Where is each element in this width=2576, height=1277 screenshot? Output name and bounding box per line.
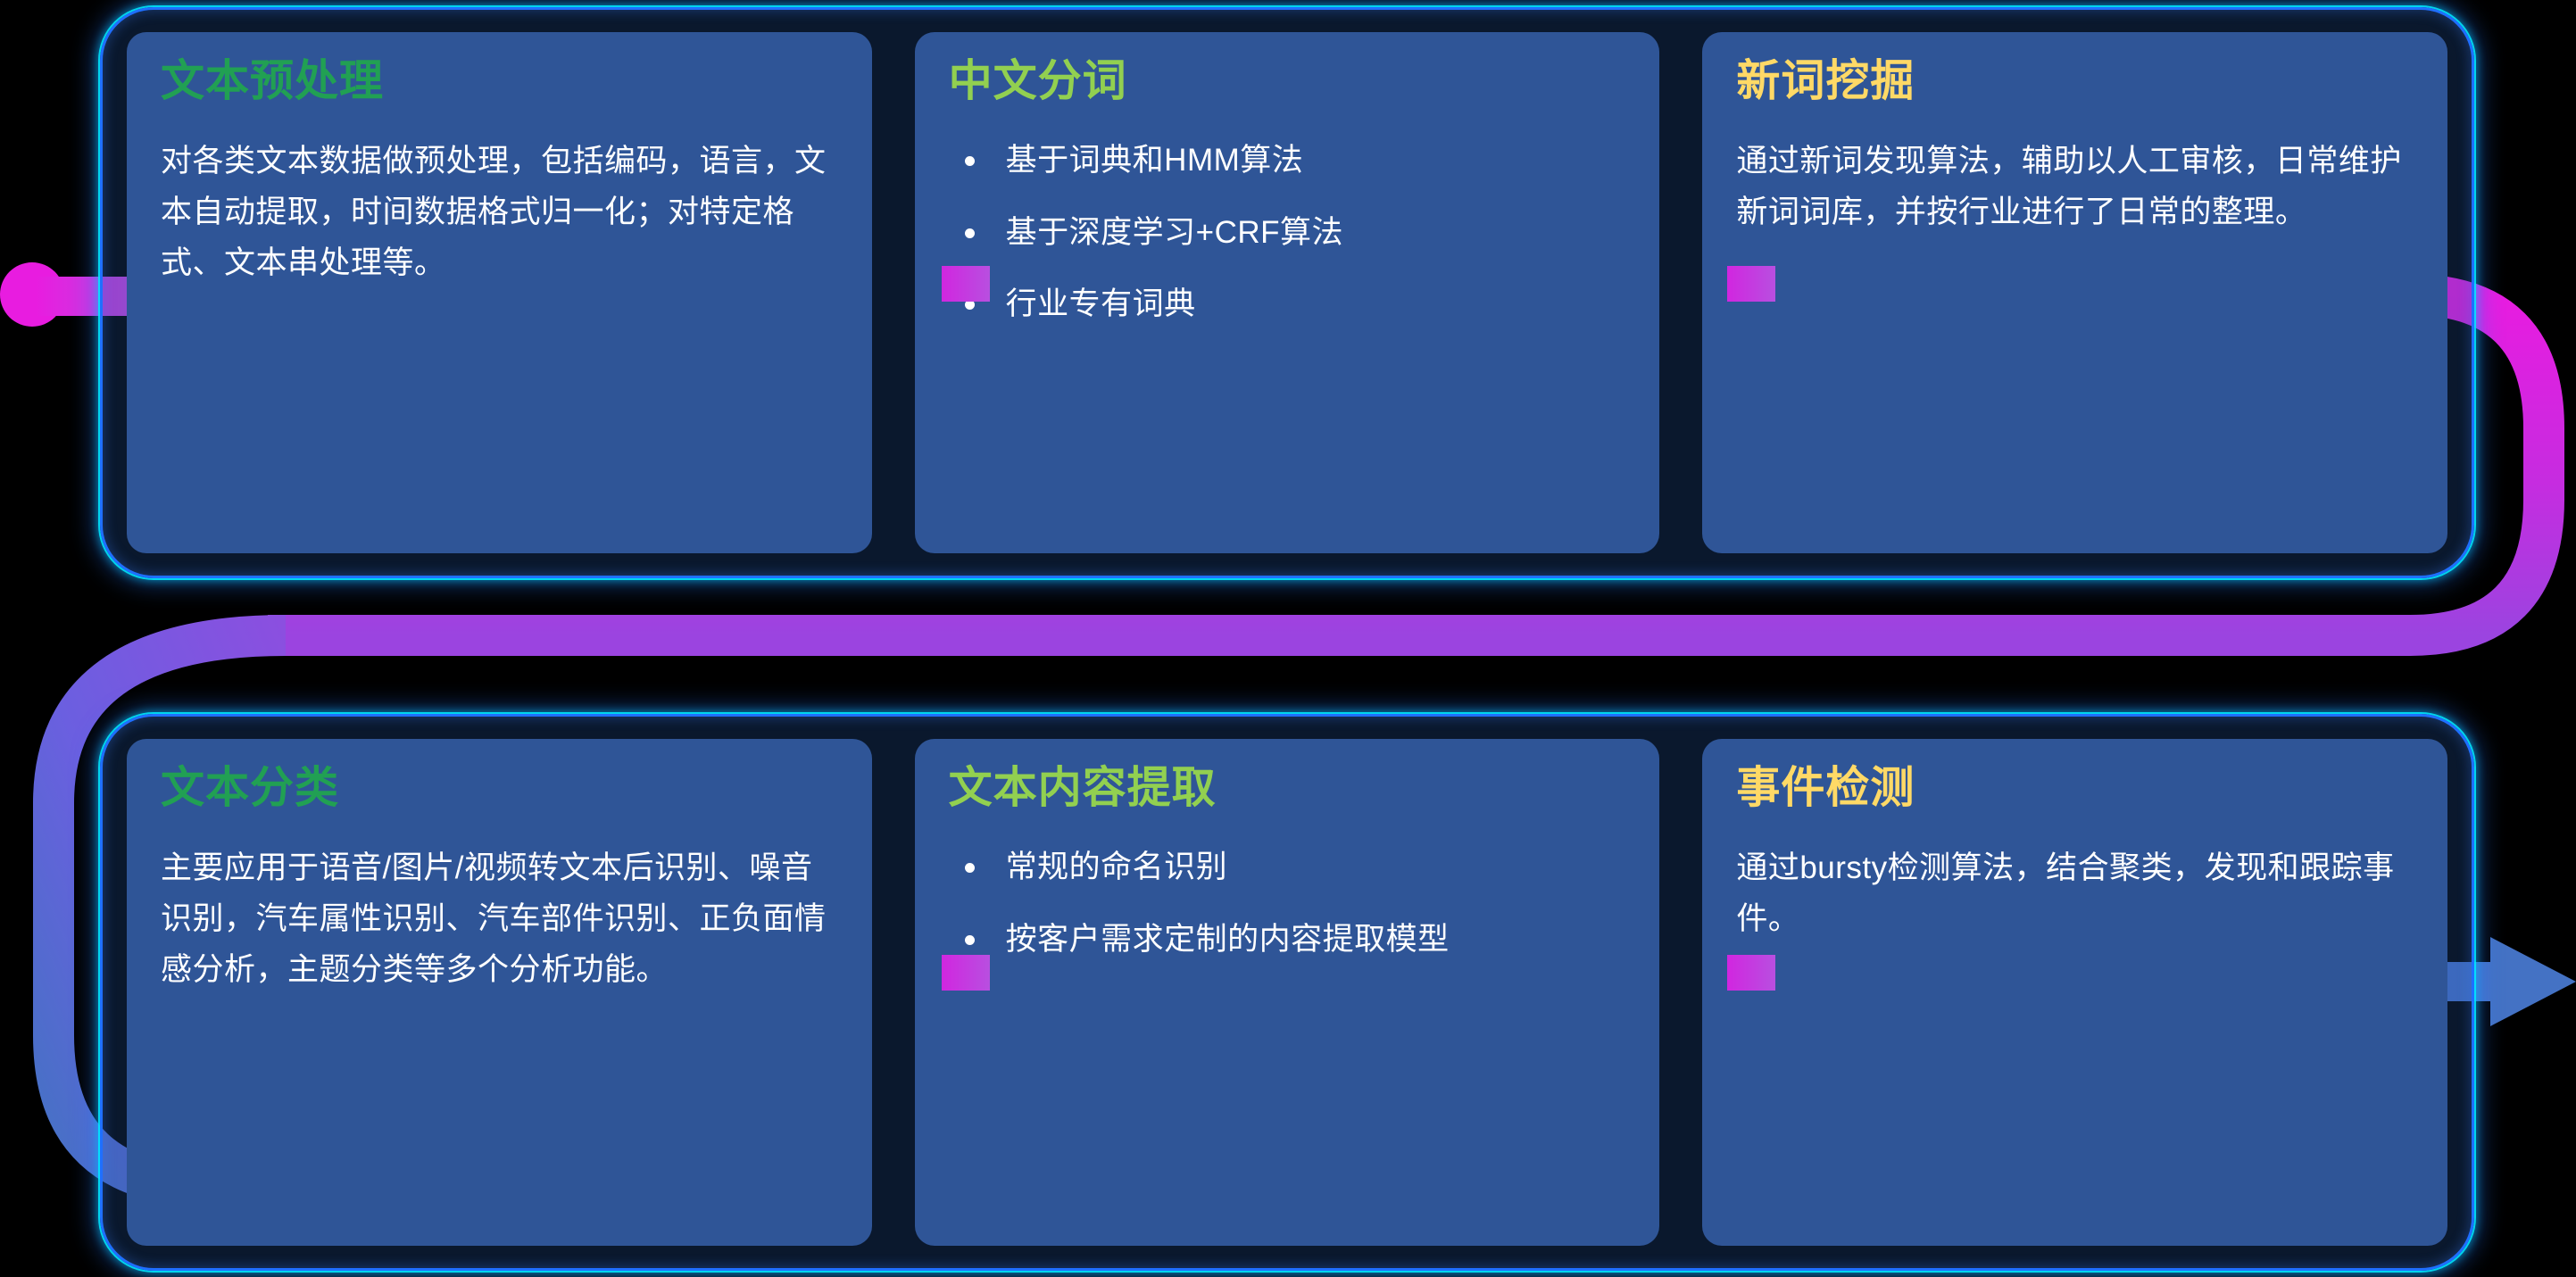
card-title: 中文分词 bbox=[949, 59, 1626, 104]
list-item: 基于词典和HMM算法 bbox=[949, 137, 1626, 185]
card-content-extraction[interactable]: 文本内容提取 常规的命名识别 按客户需求定制的内容提取模型 bbox=[915, 739, 1660, 1246]
card-title: 新词挖掘 bbox=[1736, 59, 2414, 104]
list-item: 常规的命名识别 bbox=[949, 843, 1626, 891]
card-text-classification[interactable]: 文本分类 主要应用于语音/图片/视频转文本后识别、噪音识别，汽车属性识别、汽车部… bbox=[127, 739, 872, 1246]
list-item: 按客户需求定制的内容提取模型 bbox=[949, 916, 1626, 964]
card-text-preprocessing[interactable]: 文本预处理 对各类文本数据做预处理，包括编码，语言，文本自动提取，时间数据格式归… bbox=[127, 32, 872, 553]
row-1-container: 文本预处理 对各类文本数据做预处理，包括编码，语言，文本自动提取，时间数据格式归… bbox=[100, 7, 2474, 578]
connector-stub-1 bbox=[942, 266, 990, 302]
card-body-text: 对各类文本数据做预处理，包括编码，语言，文本自动提取，时间数据格式归一化；对特定… bbox=[161, 137, 838, 288]
card-chinese-segmentation[interactable]: 中文分词 基于词典和HMM算法 基于深度学习+CRF算法 行业专有词典 bbox=[915, 32, 1660, 553]
connector-stub-3 bbox=[942, 955, 990, 991]
list-item: 基于深度学习+CRF算法 bbox=[949, 209, 1626, 257]
flow-start-dot bbox=[0, 262, 64, 327]
card-title: 事件检测 bbox=[1736, 766, 2414, 811]
card-title: 文本分类 bbox=[161, 766, 838, 811]
card-bullet-list: 常规的命名识别 按客户需求定制的内容提取模型 bbox=[949, 843, 1626, 964]
connector-stub-2 bbox=[1727, 266, 1775, 302]
card-title: 文本内容提取 bbox=[949, 766, 1626, 811]
flow-end-arrow bbox=[2490, 937, 2576, 1026]
card-body-text: 通过新词发现算法，辅助以人工审核，日常维护新词词库，并按行业进行了日常的整理。 bbox=[1736, 137, 2414, 237]
card-body-text: 主要应用于语音/图片/视频转文本后识别、噪音识别，汽车属性识别、汽车部件识别、正… bbox=[161, 843, 838, 995]
connector-stub-4 bbox=[1727, 955, 1775, 991]
card-event-detection[interactable]: 事件检测 通过bursty检测算法，结合聚类，发现和跟踪事件。 bbox=[1702, 739, 2447, 1246]
card-bullet-list: 基于词典和HMM算法 基于深度学习+CRF算法 行业专有词典 bbox=[949, 137, 1626, 328]
card-body-text: 通过bursty检测算法，结合聚类，发现和跟踪事件。 bbox=[1736, 843, 2414, 944]
row-2-container: 文本分类 主要应用于语音/图片/视频转文本后识别、噪音识别，汽车属性识别、汽车部… bbox=[100, 714, 2474, 1271]
list-item: 行业专有词典 bbox=[949, 280, 1626, 328]
card-new-word-mining[interactable]: 新词挖掘 通过新词发现算法，辅助以人工审核，日常维护新词词库，并按行业进行了日常… bbox=[1702, 32, 2447, 553]
card-title: 文本预处理 bbox=[161, 59, 838, 104]
